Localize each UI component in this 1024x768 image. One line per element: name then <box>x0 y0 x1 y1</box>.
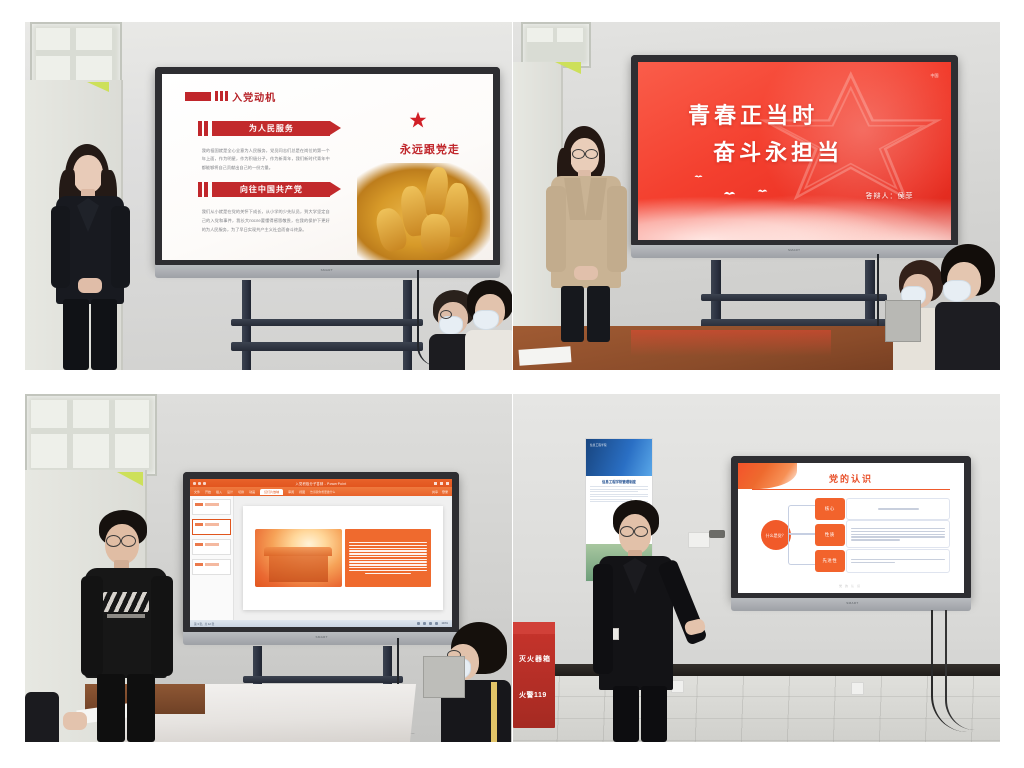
baseboard <box>513 664 1000 676</box>
slide-title-line-2: 奋斗永担当 <box>713 135 843 167</box>
red-star-icon <box>409 111 427 129</box>
tracksuit-stripe <box>491 682 497 742</box>
current-slide[interactable] <box>243 506 443 610</box>
slide-ru-dang-dong-ji: 入党动机 为人民服务 我的祖国就是全心全意为人民服务，党员同志们总是在岗位的第一… <box>162 74 493 260</box>
golden-monument-graphic <box>357 163 489 260</box>
diagram-card-1 <box>846 498 950 520</box>
face-mask <box>439 316 463 335</box>
banner-1: 为人民服务 <box>198 121 330 136</box>
presenter <box>591 500 701 742</box>
left-arm <box>593 564 613 674</box>
slide-thumbnail[interactable] <box>192 559 231 575</box>
audience-member <box>935 244 1000 370</box>
slide-header-text: 入党动机 <box>232 89 276 104</box>
window-pane <box>557 28 583 42</box>
quick-access-toolbar[interactable] <box>193 482 206 485</box>
left-arm <box>51 206 70 288</box>
document-title: 入党积极分子答辩 - PowerPoint <box>296 481 347 486</box>
poster-text-line <box>590 491 638 492</box>
slide-footer: 党的认识 <box>738 584 964 588</box>
diagram-node-2: 性质 <box>815 524 845 546</box>
wall-bracket <box>709 530 725 538</box>
torso <box>25 692 59 742</box>
node-2-label: 性质 <box>825 532 835 538</box>
diagram-node-1: 核心 <box>815 498 845 520</box>
slide-canvas[interactable] <box>234 496 452 620</box>
connector-bottom <box>788 533 816 565</box>
ribbon-tab-design[interactable]: 设计 <box>227 490 233 494</box>
fire-cabinet-label: 灭火器箱 <box>519 654 551 664</box>
slide-title-line-1: 青春正当时 <box>688 98 818 130</box>
header-bars <box>215 91 228 101</box>
panel-brand-label: SMART <box>321 268 333 272</box>
close-icon <box>446 482 449 485</box>
cloud-graphic <box>638 187 951 240</box>
interactive-flat-panel[interactable]: 入党动机 为人民服务 我的祖国就是全心全意为人民服务，党员同志们总是在岗位的第一… <box>155 67 500 267</box>
ribbon-tab-insert[interactable]: 插入 <box>216 490 222 494</box>
header-block <box>185 92 211 101</box>
poster-text-line <box>590 494 648 495</box>
tv-stand-shelf <box>243 676 403 683</box>
powerpoint-window[interactable]: 入党积极分子答辩 - PowerPoint 文件 开始 插入 设计 切换 动画 … <box>190 479 452 627</box>
equipment-rack <box>423 656 465 698</box>
slide-body-2: 我们从小就是在党的关怀下成长，从小学的少先队员，到大学坚定自己的入党和事件，我长… <box>202 208 330 234</box>
ribbon-tab-slideshow[interactable]: 幻灯片放映 <box>260 489 283 495</box>
poster-header: 信息工程学院 <box>586 439 652 476</box>
slide-qingchun-title: 中国 青春正当时 奋斗永担当 答辩人：侯菲 <box>638 62 951 240</box>
photo-top-left[interactable]: 入党动机 为人民服务 我的祖国就是全心全意为人民服务，党员同志们总是在岗位的第一… <box>25 22 512 370</box>
signin-button[interactable]: 登录 <box>442 490 448 494</box>
window <box>25 394 157 476</box>
slide-body-1: 我的祖国就是全心全意为人民服务，党员同志们总是在岗位的第一个年上面，作为明星，作… <box>202 147 330 173</box>
orange-text-block <box>345 529 432 586</box>
window-pane <box>76 56 112 80</box>
photo-bottom-right[interactable]: 信息工程学院 信息工程学院管理制度 灭火器箱 火警119 <box>513 394 1000 742</box>
panel-screen[interactable]: 入党积极分子答辩 - PowerPoint 文件 开始 插入 设计 切换 动画 … <box>190 479 452 627</box>
powerpoint-titlebar: 入党积极分子答辩 - PowerPoint <box>190 479 452 487</box>
slide-counter: 第 3 张，共 12 张 <box>194 622 214 626</box>
presenter <box>541 126 631 342</box>
tell-me-search[interactable]: 告诉我你想要做什么 <box>310 490 335 494</box>
diagram-node-3: 先进性 <box>815 550 845 572</box>
cabinet-top <box>513 622 555 634</box>
connector-top <box>788 505 816 536</box>
sweatshirt-sub <box>107 614 145 618</box>
ribbon-tab-animations[interactable]: 动画 <box>249 490 255 494</box>
photo-top-right[interactable]: 中国 青春正当时 奋斗永担当 答辩人：侯菲 <box>513 22 1000 370</box>
floor-grid <box>513 674 1000 742</box>
node-3-label: 先进性 <box>822 558 837 564</box>
window-pane <box>31 400 67 428</box>
monument-figure <box>420 213 451 253</box>
panel-brand-label: SMART <box>788 248 800 252</box>
photo-collage: 入党动机 为人民服务 我的祖国就是全心全意为人民服务，党员同志们总是在岗位的第一… <box>25 22 1000 742</box>
panel-screen[interactable]: 党的认识 什么是党？ 核心 性质 先进性 <box>738 463 964 593</box>
share-button[interactable]: 共享 <box>432 490 438 494</box>
poster-org-name: 信息工程学院 <box>590 443 607 447</box>
tv-stand-shelf <box>231 319 423 326</box>
window-pane <box>527 28 553 42</box>
minimize-icon <box>434 482 437 485</box>
undo-icon <box>198 482 201 485</box>
banner-bars <box>198 121 208 136</box>
trousers <box>561 286 584 342</box>
wall-outlet[interactable] <box>851 682 864 695</box>
redo-icon <box>203 482 206 485</box>
left-arm <box>81 576 103 676</box>
eyeglasses <box>572 149 585 159</box>
ribbon-right-actions[interactable]: 共享 登录 <box>432 490 448 494</box>
panel-brand-label: SMART <box>846 601 858 605</box>
node-1-label: 核心 <box>825 506 835 512</box>
window <box>30 22 122 88</box>
banner-1-label: 为人民服务 <box>249 123 294 134</box>
trousers <box>97 674 125 742</box>
power-cable <box>945 610 975 730</box>
trousers <box>587 286 610 342</box>
window-pane <box>31 434 67 468</box>
presenter <box>81 510 171 742</box>
slide-thumbnail-selected[interactable] <box>192 519 231 535</box>
eyeglasses <box>620 526 634 537</box>
interactive-flat-panel[interactable]: 入党积极分子答辩 - PowerPoint 文件 开始 插入 设计 切换 动画 … <box>183 472 459 634</box>
panel-screen[interactable]: 中国 青春正当时 奋斗永担当 答辩人：侯菲 <box>638 62 951 240</box>
panel-screen[interactable]: 入党动机 为人民服务 我的祖国就是全心全意为人民服务，党员同志们总是在岗位的第一… <box>162 74 493 260</box>
diagram-card-3 <box>846 549 950 573</box>
window-pane <box>76 28 112 50</box>
ribbon-tab-home[interactable]: 开始 <box>205 490 211 494</box>
fire-extinguisher-cabinet: 灭火器箱 火警119 <box>513 622 555 728</box>
eyeglasses <box>106 535 121 547</box>
emergency-number: 火警119 <box>519 690 547 700</box>
trousers <box>613 686 639 742</box>
trousers <box>63 299 89 370</box>
left-arm <box>546 186 566 272</box>
audience-member <box>465 280 512 370</box>
status-left: 第 3 张，共 12 张 <box>194 622 214 626</box>
slide-corner-mark: 中国 <box>930 73 938 79</box>
title-rule <box>752 489 951 490</box>
panel-chin: SMART <box>183 632 459 645</box>
window-pane <box>73 434 109 468</box>
face-mask <box>473 310 499 330</box>
dove-icon <box>694 174 703 179</box>
window-pane <box>115 400 149 428</box>
ribbon-tab-review[interactable]: 审阅 <box>288 490 294 494</box>
head <box>73 155 103 193</box>
eyeglasses <box>634 526 648 537</box>
ribbon-tab-file[interactable]: 文件 <box>194 490 200 494</box>
maximize-icon <box>440 482 443 485</box>
interactive-flat-panel[interactable]: 中国 青春正当时 奋斗永担当 答辩人：侯菲 <box>631 55 958 247</box>
face-mask <box>943 280 971 302</box>
torso <box>935 302 1000 370</box>
save-icon <box>193 482 196 485</box>
banner-bars <box>198 182 208 197</box>
table-reflection <box>631 330 831 356</box>
powerpoint-statusbar: 第 3 张，共 12 张 100% <box>190 620 452 627</box>
poster-text-line <box>590 486 648 487</box>
powerpoint-body <box>190 496 452 620</box>
ribbon-tab-transitions[interactable]: 切换 <box>238 490 244 494</box>
sweatshirt-graphic <box>103 592 149 612</box>
interactive-flat-panel[interactable]: 党的认识 什么是党？ 核心 性质 先进性 <box>731 456 971 600</box>
panel-chin: SMART <box>631 245 958 258</box>
hub-label: 什么是党？ <box>766 533 786 538</box>
ribbon-tabs[interactable]: 文件 开始 插入 设计 切换 动画 幻灯片放映 审阅 视图 告诉我你想要做什么 … <box>190 487 452 496</box>
slide-title: 党的认识 <box>738 472 964 485</box>
presenter <box>43 144 139 370</box>
reading-view-icon[interactable] <box>429 622 432 625</box>
panel-chin: SMART <box>155 265 500 278</box>
poster-title: 信息工程学院管理制度 <box>586 479 652 484</box>
banner-2: 向往中国共产党 <box>198 182 330 197</box>
window-pane <box>115 434 149 468</box>
banner-2-label: 向往中国共产党 <box>240 184 303 195</box>
eyeglasses <box>440 310 452 319</box>
slideshow-icon[interactable] <box>435 622 438 625</box>
ribbon-tab-view[interactable]: 视图 <box>299 490 305 494</box>
audience-member <box>25 692 59 742</box>
normal-view-icon[interactable] <box>417 622 420 625</box>
panel-brand-label: SMART <box>315 635 327 639</box>
sorter-view-icon[interactable] <box>423 622 426 625</box>
slide-thumbnail[interactable] <box>192 539 231 555</box>
right-arm <box>151 576 173 676</box>
slide-slogan: 永远跟党走 <box>400 141 460 157</box>
trousers <box>641 686 667 742</box>
slide-header: 入党动机 <box>185 89 276 104</box>
tiananmen-image <box>255 529 342 586</box>
eyeglasses <box>585 149 598 159</box>
diagram-hub: 什么是党？ <box>761 520 791 550</box>
slide-thumbnail-pane[interactable] <box>190 496 234 620</box>
eyeglasses <box>121 535 136 547</box>
equipment-rack <box>885 300 921 342</box>
window-pane <box>36 28 70 50</box>
hands <box>574 266 598 280</box>
right-arm <box>111 206 130 288</box>
banner-2-arrow: 向往中国共产党 <box>212 182 330 197</box>
trousers <box>127 674 155 742</box>
right-arm <box>607 186 627 272</box>
window-pane <box>73 400 109 428</box>
diagram-card-2 <box>846 520 950 548</box>
hands <box>78 278 102 293</box>
connector-mid <box>788 533 815 534</box>
photo-bottom-left[interactable]: 入党积极分子答辩 - PowerPoint 文件 开始 插入 设计 切换 动画 … <box>25 394 512 742</box>
slide-dang-de-ren-shi: 党的认识 什么是党？ 核心 性质 先进性 <box>738 463 964 593</box>
torso <box>465 330 512 370</box>
window-pane <box>36 56 70 80</box>
tv-stand-shelf <box>231 342 423 351</box>
trousers <box>91 299 117 370</box>
tv-stand-shelf <box>701 294 887 301</box>
banner-1-arrow: 为人民服务 <box>212 121 330 136</box>
poster-text-line <box>590 496 648 497</box>
poster-text-line <box>590 489 648 490</box>
window-controls[interactable] <box>434 482 449 485</box>
slide-thumbnail[interactable] <box>192 499 231 515</box>
